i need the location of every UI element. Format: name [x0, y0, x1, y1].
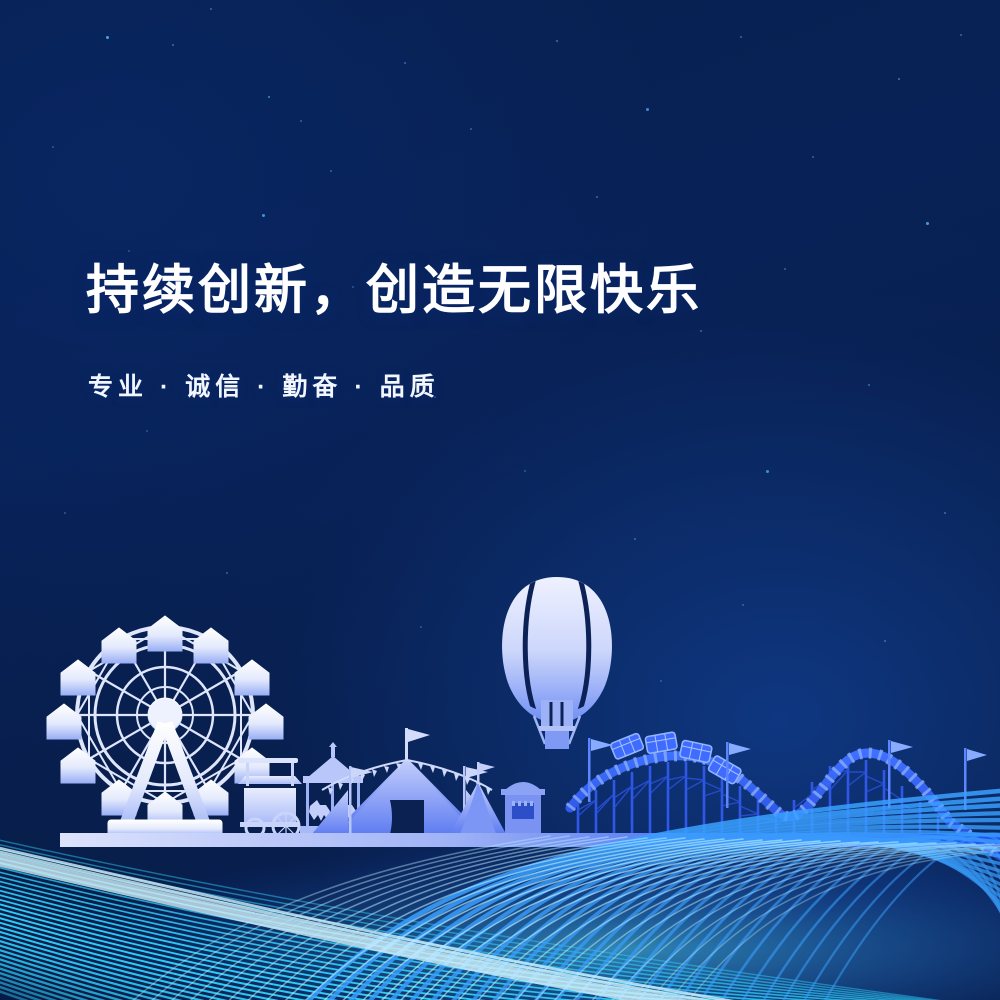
poster-canvas: 持续创新，创造无限快乐 专业 · 诚信 · 勤奋 · 品质	[0, 0, 1000, 1000]
page-subtitle: 专业 · 诚信 · 勤奋 · 品质	[88, 375, 440, 400]
hot-air-balloon	[502, 577, 612, 749]
page-title: 持续创新，创造无限快乐	[86, 264, 702, 317]
amusement-park-illustration	[0, 0, 1000, 1000]
wave-mesh	[0, 790, 1000, 1000]
